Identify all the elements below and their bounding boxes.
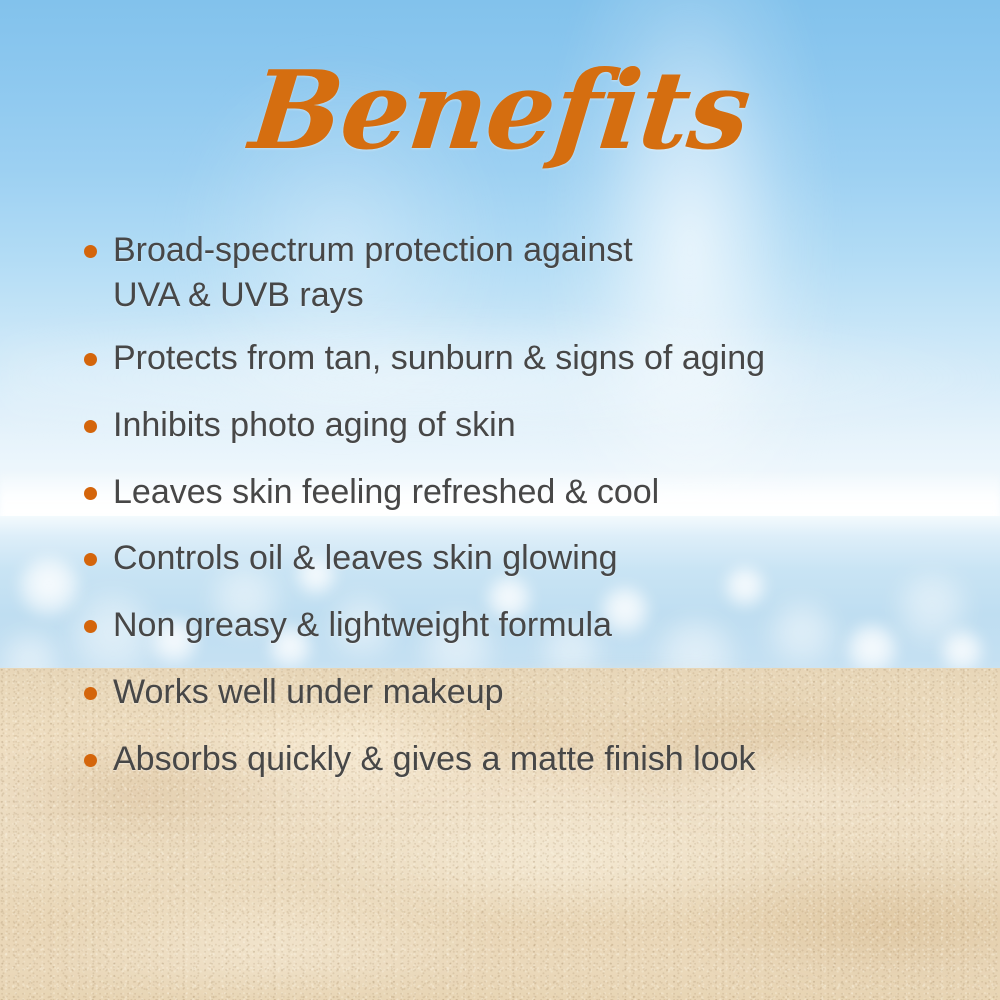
bullet-icon bbox=[84, 687, 97, 700]
bullet-icon bbox=[84, 620, 97, 633]
list-item: Non greasy & lightweight formula bbox=[78, 603, 958, 648]
list-item-label: Works well under makeup bbox=[113, 670, 504, 715]
benefits-poster: Benefits Broad-spectrum protection again… bbox=[0, 0, 1000, 1000]
bullet-icon bbox=[84, 487, 97, 500]
bullet-icon bbox=[84, 553, 97, 566]
list-item: Leaves skin feeling refreshed & cool bbox=[78, 470, 958, 515]
bullet-icon bbox=[84, 353, 97, 366]
benefits-list: Broad-spectrum protection against UVA & … bbox=[78, 228, 958, 804]
bullet-icon bbox=[84, 245, 97, 258]
list-item-label: Leaves skin feeling refreshed & cool bbox=[113, 470, 659, 515]
bullet-icon bbox=[84, 754, 97, 767]
list-item-label: Protects from tan, sunburn & signs of ag… bbox=[113, 336, 765, 381]
list-item-label: Broad-spectrum protection against UVA & … bbox=[113, 228, 633, 318]
list-item: Inhibits photo aging of skin bbox=[78, 403, 958, 448]
list-item-label: Absorbs quickly & gives a matte finish l… bbox=[113, 737, 756, 782]
list-item-label: Inhibits photo aging of skin bbox=[113, 403, 516, 448]
list-item-label: Controls oil & leaves skin glowing bbox=[113, 536, 618, 581]
list-item-label: Non greasy & lightweight formula bbox=[113, 603, 612, 648]
page-title: Benefits bbox=[0, 46, 1000, 178]
list-item: Works well under makeup bbox=[78, 670, 958, 715]
list-item: Controls oil & leaves skin glowing bbox=[78, 536, 958, 581]
list-item: Absorbs quickly & gives a matte finish l… bbox=[78, 737, 958, 782]
list-item: Broad-spectrum protection against UVA & … bbox=[78, 228, 958, 318]
bullet-icon bbox=[84, 420, 97, 433]
list-item: Protects from tan, sunburn & signs of ag… bbox=[78, 336, 958, 381]
